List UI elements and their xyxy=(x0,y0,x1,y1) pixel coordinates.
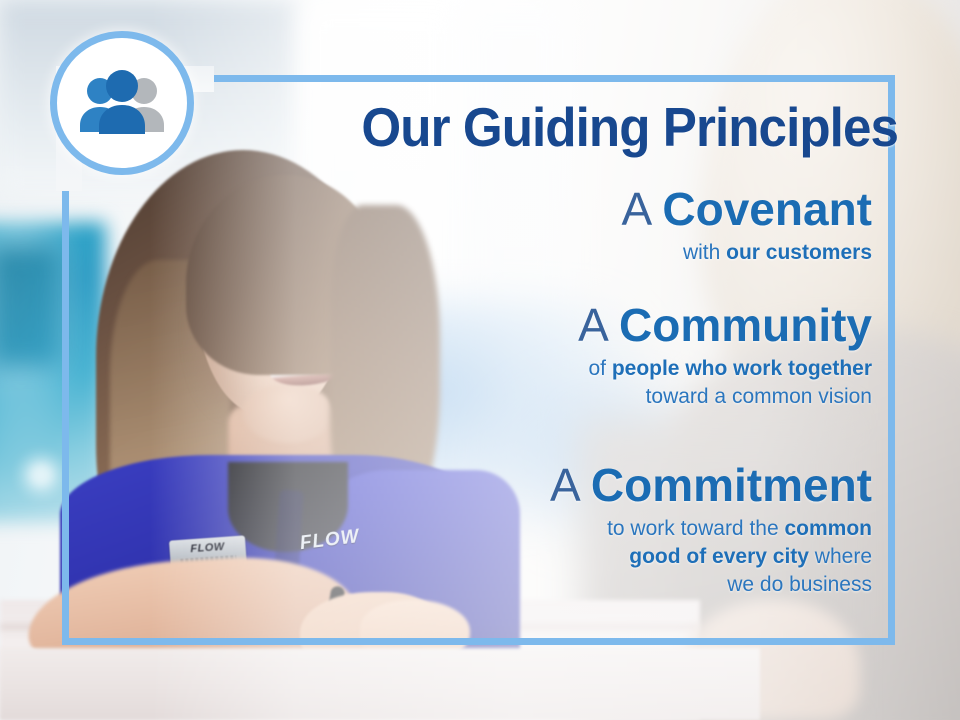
photo-display-logo xyxy=(18,452,64,498)
photo-display-screen-shadow xyxy=(0,246,60,366)
page-title: Our Guiding Principles xyxy=(63,95,898,159)
subtext-fragment-bold: good of every city xyxy=(629,545,809,568)
principle-heading: A Commitment xyxy=(550,462,872,509)
principle-subtext-line: we do business xyxy=(550,571,872,599)
principle-block-covenant: A Covenant with our customers xyxy=(621,186,872,267)
principle-subtext-line: toward a common vision xyxy=(578,383,872,411)
photo-name-badge-text: FLOW xyxy=(175,540,240,556)
principle-heading: A Community xyxy=(578,302,872,349)
subtext-fragment-bold: our customers xyxy=(726,241,872,264)
principle-article: A xyxy=(621,183,649,235)
guiding-principles-graphic: FLOW FLOW xyxy=(0,0,960,720)
subtext-fragment: we do business xyxy=(727,573,872,596)
subtext-fragment: toward a common vision xyxy=(646,385,872,408)
subtext-fragment-bold: people who work together xyxy=(612,357,872,380)
principle-subtext-line: to work toward the common xyxy=(550,515,872,543)
photo-table-top xyxy=(0,648,760,720)
principle-word: Covenant xyxy=(662,183,872,235)
subtext-fragment: of xyxy=(588,357,611,380)
principle-word: Commitment xyxy=(591,459,872,511)
subtext-fragment: to work toward the xyxy=(607,517,784,540)
subtext-fragment: with xyxy=(683,241,726,264)
principle-subtext-line: of people who work together xyxy=(578,355,872,383)
principle-subtext: of people who work together toward a com… xyxy=(578,355,872,411)
principle-block-community: A Community of people who work together … xyxy=(578,302,872,411)
principle-block-commitment: A Commitment to work toward the common g… xyxy=(550,462,872,599)
principle-article: A xyxy=(550,459,578,511)
principle-subtext: with our customers xyxy=(621,239,872,267)
subtext-fragment-bold: common xyxy=(784,517,872,540)
principle-subtext-line: with our customers xyxy=(621,239,872,267)
principle-article: A xyxy=(578,299,606,351)
principle-word: Community xyxy=(619,299,872,351)
subtext-fragment: where xyxy=(809,545,872,568)
principle-subtext-line: good of every city where xyxy=(550,543,872,571)
photo-woman-chin xyxy=(243,385,333,443)
principle-heading: A Covenant xyxy=(621,186,872,233)
principle-subtext: to work toward the common good of every … xyxy=(550,515,872,599)
